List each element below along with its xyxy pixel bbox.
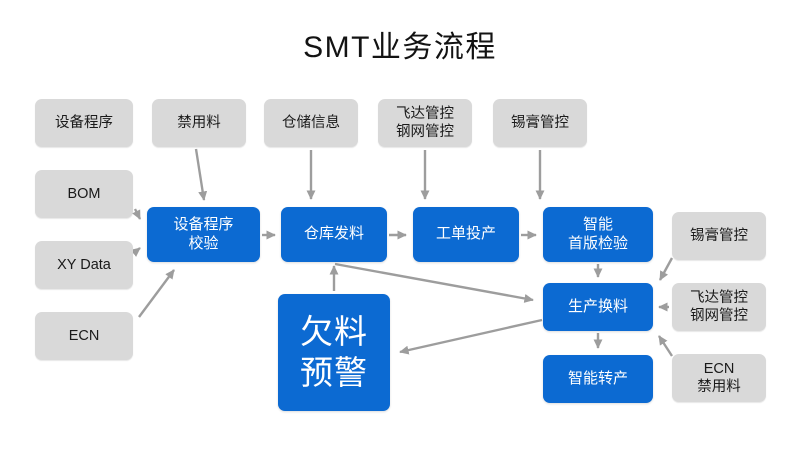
node-banned-material[interactable]: 禁用料: [152, 99, 246, 147]
node-warehouse-info[interactable]: 仓储信息: [264, 99, 358, 147]
node-smart-first-article-inspection[interactable]: 智能 首版检验: [543, 207, 653, 262]
flowchart-canvas: SMT业务流程 设备程序 禁用料: [0, 0, 800, 452]
connector-production-changeover-to-shortage-alert: [400, 320, 542, 352]
node-solder-paste-control-right[interactable]: 锡膏管控: [672, 212, 766, 260]
node-bom[interactable]: BOM: [35, 170, 133, 218]
connector-ecn-banned-to-production-changeover: [659, 336, 672, 356]
connector-xy-data-to-equipment-program-check: [135, 248, 140, 252]
node-solder-paste-control-top[interactable]: 锡膏管控: [493, 99, 587, 147]
node-warehouse-issue[interactable]: 仓库发料: [281, 207, 387, 262]
connector-solder-paste-right-to-production-changeover: [660, 258, 672, 280]
node-smart-changeover[interactable]: 智能转产: [543, 355, 653, 403]
node-equipment-program[interactable]: 设备程序: [35, 99, 133, 147]
node-equipment-program-check[interactable]: 设备程序 校验: [147, 207, 260, 262]
node-shortage-alert[interactable]: 欠料 预警: [278, 294, 390, 411]
node-production-changeover[interactable]: 生产换料: [543, 283, 653, 331]
node-ecn[interactable]: ECN: [35, 312, 133, 360]
connector-banned-material-to-equipment-program-check: [196, 149, 204, 200]
connector-bom-to-equipment-program-check: [135, 209, 140, 219]
node-ecn-banned-material[interactable]: ECN 禁用料: [672, 354, 766, 402]
connector-ecn-to-equipment-program-check: [139, 270, 174, 317]
node-feeder-stencil-control-top[interactable]: 飞达管控 钢网管控: [378, 99, 472, 147]
page-title: SMT业务流程: [0, 22, 800, 66]
node-xy-data[interactable]: XY Data: [35, 241, 133, 289]
node-work-order-production[interactable]: 工单投产: [413, 207, 519, 262]
node-feeder-stencil-control-right[interactable]: 飞达管控 钢网管控: [672, 283, 766, 331]
